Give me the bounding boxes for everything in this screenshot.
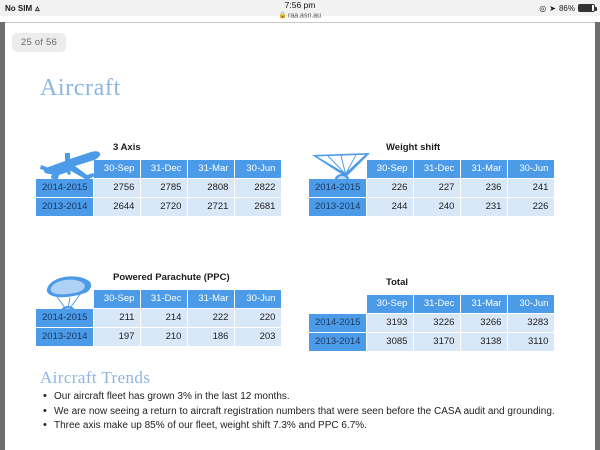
cell-value: 186 <box>188 328 234 346</box>
table-row: 2013-2014 244 240 231 226 <box>309 198 554 216</box>
col-header-31-dec: 31-Dec <box>141 160 187 178</box>
row-label: 2014-2015 <box>309 179 366 197</box>
col-header-31-mar: 31-Mar <box>461 295 507 313</box>
cell-value: 2785 <box>141 179 187 197</box>
cell-value: 231 <box>461 198 507 216</box>
row-label: 2013-2014 <box>36 328 93 346</box>
table-header-row: 30-Sep 31-Dec 31-Mar 30-Jun <box>36 290 281 308</box>
col-header-30-jun: 30-Jun <box>508 160 554 178</box>
cell-value: 197 <box>94 328 140 346</box>
trends-heading: Aircraft Trends <box>40 368 585 388</box>
lock-icon: 🔒 <box>279 12 287 19</box>
row-label: 2014-2015 <box>36 309 93 327</box>
col-header-30-jun: 30-Jun <box>508 295 554 313</box>
table-three-axis: 30-Sep 31-Dec 31-Mar 30-Jun 2014-2015 27… <box>35 159 282 217</box>
row-label: 2014-2015 <box>309 314 366 332</box>
cell-value: 3283 <box>508 314 554 332</box>
list-item: Our aircraft fleet has grown 3% in the l… <box>40 390 585 405</box>
pdf-page: 25 of 56 Aircraft 3 Axis 30- <box>5 23 595 450</box>
table-row: 2013-2014 2644 2720 2721 2681 <box>36 198 281 216</box>
cell-value: 3085 <box>367 333 413 351</box>
cell-value: 3193 <box>367 314 413 332</box>
table-corner-cell <box>309 160 366 178</box>
cell-value: 227 <box>414 179 460 197</box>
cell-value: 2808 <box>188 179 234 197</box>
table-header-row: 30-Sep 31-Dec 31-Mar 30-Jun <box>36 160 281 178</box>
col-header-30-sep: 30-Sep <box>367 295 413 313</box>
table-row: 2014-2015 226 227 236 241 <box>309 179 554 197</box>
page-counter-badge: 25 of 56 <box>12 33 66 52</box>
list-item: Three axis make up 85% of our fleet, wei… <box>40 419 585 434</box>
col-header-31-dec: 31-Dec <box>414 295 460 313</box>
row-label: 2014-2015 <box>36 179 93 197</box>
cell-value: 241 <box>508 179 554 197</box>
col-header-30-jun: 30-Jun <box>235 160 281 178</box>
cell-value: 244 <box>367 198 413 216</box>
cell-value: 222 <box>188 309 234 327</box>
cell-value: 236 <box>461 179 507 197</box>
table-powered-parachute: 30-Sep 31-Dec 31-Mar 30-Jun 2014-2015 21… <box>35 289 282 347</box>
table-label-weight-shift: Weight shift <box>386 142 440 153</box>
row-label: 2013-2014 <box>309 198 366 216</box>
col-header-31-mar: 31-Mar <box>188 290 234 308</box>
table-label-three-axis: 3 Axis <box>113 142 141 153</box>
col-header-31-dec: 31-Dec <box>414 160 460 178</box>
cell-value: 2721 <box>188 198 234 216</box>
tablet-screen: No SIM ▵ ◎ ➤ 86% 7:56 pm 🔒raa.asn.au 25 … <box>0 0 600 450</box>
col-header-31-mar: 31-Mar <box>188 160 234 178</box>
cell-value: 3138 <box>461 333 507 351</box>
col-header-30-jun: 30-Jun <box>235 290 281 308</box>
col-header-30-sep: 30-Sep <box>367 160 413 178</box>
table-header-row: 30-Sep 31-Dec 31-Mar 30-Jun <box>309 295 554 313</box>
table-row: 2013-2014 3085 3170 3138 3110 <box>309 333 554 351</box>
cell-value: 220 <box>235 309 281 327</box>
col-header-30-sep: 30-Sep <box>94 160 140 178</box>
cell-value: 226 <box>367 179 413 197</box>
table-total: 30-Sep 31-Dec 31-Mar 30-Jun 2014-2015 31… <box>308 294 555 352</box>
list-item: We are now seeing a return to aircraft r… <box>40 405 585 420</box>
col-header-31-dec: 31-Dec <box>141 290 187 308</box>
table-row: 2014-2015 3193 3226 3266 3283 <box>309 314 554 332</box>
cell-value: 214 <box>141 309 187 327</box>
url-text: raa.asn.au <box>288 12 321 19</box>
cell-value: 240 <box>414 198 460 216</box>
viewer-frame-right <box>595 22 600 450</box>
table-label-total: Total <box>386 277 408 288</box>
cell-value: 2756 <box>94 179 140 197</box>
table-corner-cell <box>36 160 93 178</box>
cell-value: 2822 <box>235 179 281 197</box>
cell-value: 3226 <box>414 314 460 332</box>
cell-value: 2681 <box>235 198 281 216</box>
row-label: 2013-2014 <box>36 198 93 216</box>
table-row: 2014-2015 2756 2785 2808 2822 <box>36 179 281 197</box>
cell-value: 3110 <box>508 333 554 351</box>
cell-value: 3170 <box>414 333 460 351</box>
cell-value: 226 <box>508 198 554 216</box>
cell-value: 203 <box>235 328 281 346</box>
cell-value: 2644 <box>94 198 140 216</box>
col-header-31-mar: 31-Mar <box>461 160 507 178</box>
url-display[interactable]: 🔒raa.asn.au <box>0 11 600 20</box>
row-label: 2013-2014 <box>309 333 366 351</box>
table-corner-cell <box>309 295 366 313</box>
page-title: Aircraft <box>40 75 121 102</box>
col-header-30-sep: 30-Sep <box>94 290 140 308</box>
table-row: 2014-2015 211 214 222 220 <box>36 309 281 327</box>
table-weight-shift: 30-Sep 31-Dec 31-Mar 30-Jun 2014-2015 22… <box>308 159 555 217</box>
cell-value: 211 <box>94 309 140 327</box>
cell-value: 2720 <box>141 198 187 216</box>
aircraft-trends-section: Aircraft Trends Our aircraft fleet has g… <box>40 368 585 434</box>
table-header-row: 30-Sep 31-Dec 31-Mar 30-Jun <box>309 160 554 178</box>
trends-list: Our aircraft fleet has grown 3% in the l… <box>40 390 585 434</box>
table-corner-cell <box>36 290 93 308</box>
table-label-powered-parachute: Powered Parachute (PPC) <box>113 272 230 283</box>
cell-value: 210 <box>141 328 187 346</box>
table-row: 2013-2014 197 210 186 203 <box>36 328 281 346</box>
cell-value: 3266 <box>461 314 507 332</box>
